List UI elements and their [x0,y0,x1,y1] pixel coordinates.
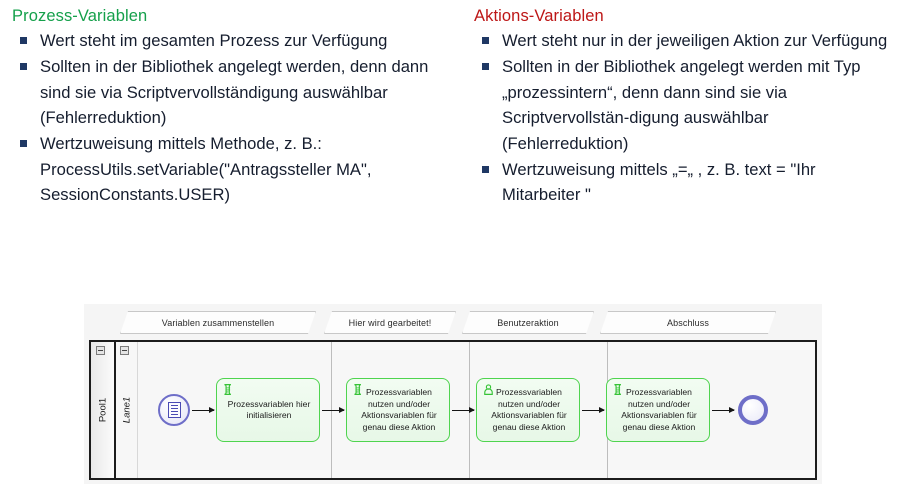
pool-label: Pool1 [97,398,108,422]
list-item-text: Wert steht im gesamten Prozess zur Verfü… [40,28,458,54]
task-4[interactable]: Prozessvariablen nutzen und/oder Aktions… [606,378,710,442]
list-item: Wert steht im gesamten Prozess zur Verfü… [8,28,458,54]
page-title-left: Prozess-Variablen [12,6,458,26]
bullet-marker-icon [482,166,489,173]
list-item-text: Sollten in der Bibliothek angelegt werde… [502,54,894,156]
lane-collapse-icon[interactable] [120,346,129,355]
sequence-flow-arrow [712,410,734,411]
bullet-marker-icon [482,63,489,70]
document-icon [168,402,181,418]
phase-label-4: Abschluss [600,311,776,334]
task-label: Prozessvariablen nutzen und/oder Aktions… [483,387,573,433]
bpmn-diagram: Variablen zusammenstellen Hier wird gear… [84,304,822,484]
task-3[interactable]: Prozessvariablen nutzen und/oder Aktions… [476,378,580,442]
bullet-marker-icon [20,37,27,44]
user-task-icon [482,383,495,396]
bullet-marker-icon [20,140,27,147]
page-title-right: Aktions-Variablen [474,6,894,26]
sequence-flow-arrow [582,410,604,411]
lane: Lane1 Prozessvariablen hier initialisier… [116,342,815,478]
list-item-text: Wertzuweisung mittels „=„ , z. B. text =… [502,157,894,208]
list-item-text: Wertzuweisung mittels Methode, z. B.: Pr… [40,131,458,208]
list-item: Wert steht nur in der jeweiligen Aktion … [470,28,894,54]
sequence-flow-arrow [192,410,214,411]
list-item: Wertzuweisung mittels „=„ , z. B. text =… [470,157,894,208]
list-item: Wertzuweisung mittels Methode, z. B.: Pr… [8,131,458,208]
list-item-text: Sollten in der Bibliothek angelegt werde… [40,54,458,131]
bullet-list-right: Wert steht nur in der jeweiligen Aktion … [470,28,894,208]
sequence-flow-arrow [452,410,474,411]
script-task-icon [222,383,235,396]
bullet-list-left: Wert steht im gesamten Prozess zur Verfü… [8,28,458,208]
column-aktions-variablen: Aktions-Variablen Wert steht nur in der … [462,0,898,300]
script-task-icon [612,383,625,396]
bullet-marker-icon [482,37,489,44]
sequence-flow-arrow [322,410,344,411]
list-item-text: Wert steht nur in der jeweiligen Aktion … [502,28,894,54]
column-prozess-variablen: Prozess-Variablen Wert steht im gesamten… [0,0,462,300]
list-item: Sollten in der Bibliothek angelegt werde… [470,54,894,156]
pool-header: Pool1 [91,342,116,478]
phase-label-3: Benutzeraktion [462,311,594,334]
phase-label-1: Variablen zusammenstellen [120,311,316,334]
script-task-icon [352,383,365,396]
start-event[interactable] [158,394,190,426]
task-2[interactable]: Prozessvariablen nutzen und/oder Aktions… [346,378,450,442]
comparison-columns: Prozess-Variablen Wert steht im gesamten… [0,0,898,300]
lane-label: Lane1 [121,397,132,423]
phase-label-2: Hier wird gearbeitet! [324,311,456,334]
end-event[interactable] [738,395,768,425]
task-label: Prozessvariablen nutzen und/oder Aktions… [353,387,443,433]
task-label: Prozessvariablen nutzen und/oder Aktions… [613,387,703,433]
pool-collapse-icon[interactable] [96,346,105,355]
task-1[interactable]: Prozessvariablen hier initialisieren [216,378,320,442]
bullet-marker-icon [20,63,27,70]
pool: Pool1 Lane1 [89,340,817,480]
list-item: Sollten in der Bibliothek angelegt werde… [8,54,458,131]
lane-header: Lane1 [116,342,138,478]
task-label: Prozessvariablen hier initialisieren [223,399,313,422]
phase-band: Variablen zusammenstellen Hier wird gear… [84,308,822,338]
